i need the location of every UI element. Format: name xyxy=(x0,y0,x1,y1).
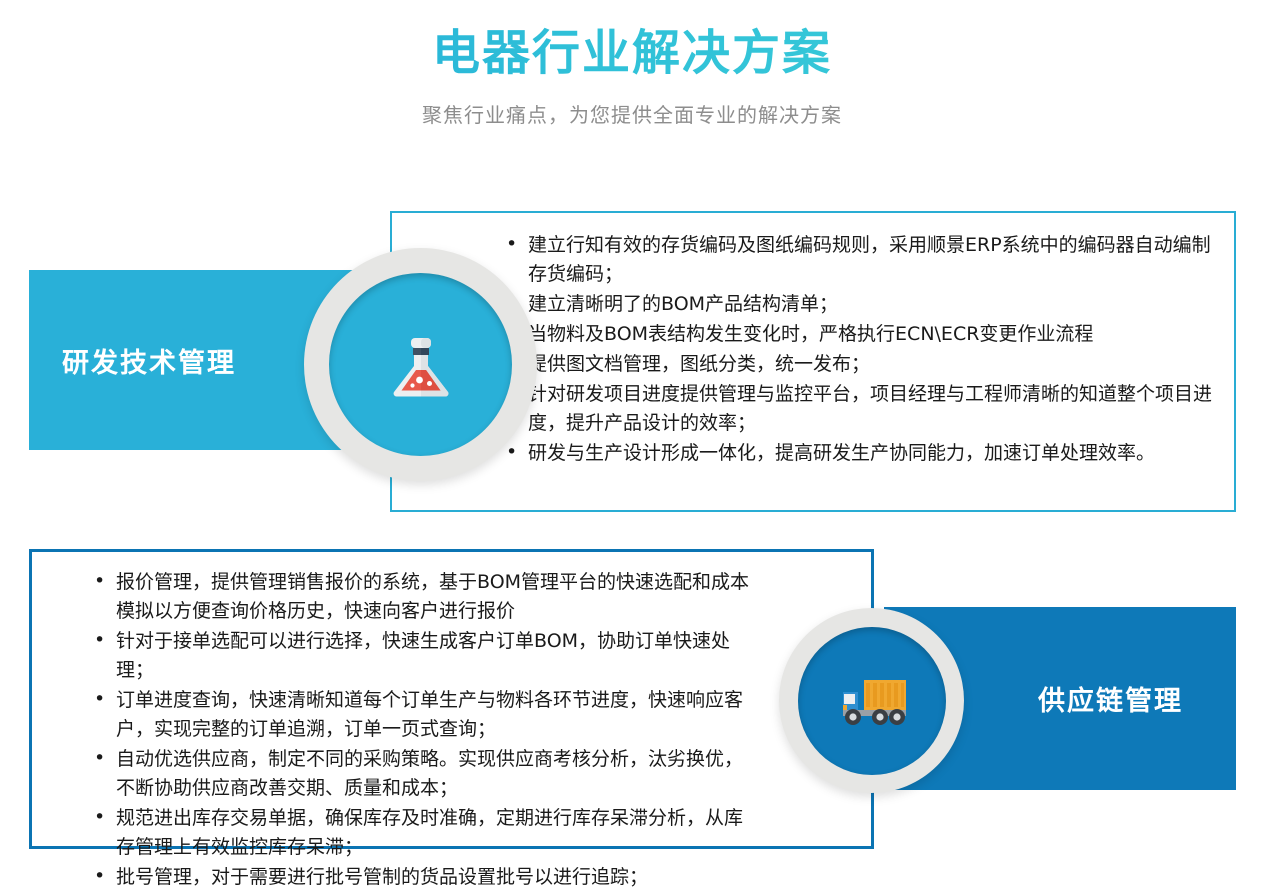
flask-icon xyxy=(378,322,464,408)
list-item: 研发与生产设计形成一体化，提高研发生产协同能力，加速订单处理效率。 xyxy=(492,439,1212,468)
list-item: 自动优选供应商，制定不同的采购策略。实现供应商考核分析，汰劣换优，不断协助供应商… xyxy=(80,745,751,803)
page-header: 电器行业解决方案 聚焦行业痛点，为您提供全面专业的解决方案 xyxy=(0,0,1264,128)
list-item: 建立清晰明了的BOM产品结构清单； xyxy=(492,290,1212,319)
sc-bullet-box: 报价管理，提供管理销售报价的系统，基于BOM管理平台的快速选配和成本模拟以方便查… xyxy=(29,549,874,849)
list-item: 规范进出库存交易单据，确保库存及时准确，定期进行库存呆滞分析，从库存管理上有效监… xyxy=(80,804,751,862)
sc-bullet-list: 报价管理，提供管理销售报价的系统，基于BOM管理平台的快速选配和成本模拟以方便查… xyxy=(80,568,751,892)
page-subtitle: 聚焦行业痛点，为您提供全面专业的解决方案 xyxy=(0,81,1264,128)
sc-circle-inner xyxy=(798,627,946,775)
sc-circle-badge xyxy=(779,608,964,793)
rd-circle-badge xyxy=(304,248,537,481)
list-item: 提供图文档管理，图纸分类，统一发布； xyxy=(492,350,1212,379)
list-item: 针对于接单选配可以进行选择，快速生成客户订单BOM，协助订单快速处理； xyxy=(80,627,751,685)
truck-icon xyxy=(833,672,911,730)
list-item: 订单进度查询，快速清晰知道每个订单生产与物料各环节进度，快速响应客户，实现完整的… xyxy=(80,686,751,744)
list-item: 当物料及BOM表结构发生变化时，严格执行ECN\ECR变更作业流程 xyxy=(492,320,1212,349)
page-title: 电器行业解决方案 xyxy=(0,0,1264,81)
list-item: 建立行知有效的存货编码及图纸编码规则，采用顺景ERP系统中的编码器自动编制存货编… xyxy=(492,231,1212,289)
sc-label-text: 供应链管理 xyxy=(1038,679,1183,718)
rd-bullet-list: 建立行知有效的存货编码及图纸编码规则，采用顺景ERP系统中的编码器自动编制存货编… xyxy=(492,231,1212,468)
list-item: 批号管理，对于需要进行批号管制的货品设置批号以进行追踪； xyxy=(80,863,751,892)
rd-label-text: 研发技术管理 xyxy=(62,341,236,380)
list-item: 针对研发项目进度提供管理与监控平台，项目经理与工程师清晰的知道整个项目进度，提升… xyxy=(492,380,1212,438)
list-item: 报价管理，提供管理销售报价的系统，基于BOM管理平台的快速选配和成本模拟以方便查… xyxy=(80,568,751,626)
rd-circle-inner xyxy=(329,273,512,456)
